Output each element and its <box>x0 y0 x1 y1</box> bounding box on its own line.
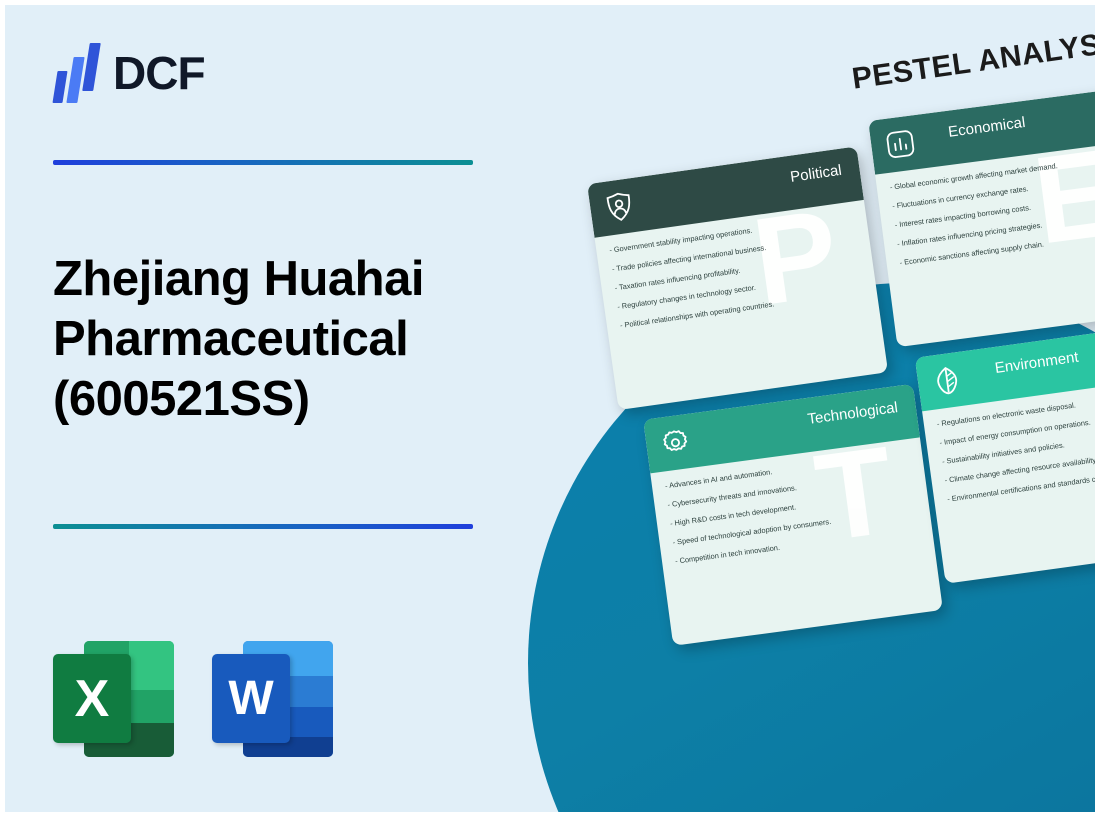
page-title-line-2: Pharmaceutical <box>53 310 493 370</box>
card-title-economical: Economical <box>947 114 1026 141</box>
card-title-technological: Technological <box>807 399 899 428</box>
leaf-icon <box>928 362 966 400</box>
card-body-technological: T - Advances in AI and automation. - Cyb… <box>650 437 943 645</box>
poster-canvas: PESTEL ANALYSIS Political P <box>5 5 1095 812</box>
divider-top <box>53 160 473 165</box>
page-title: Zhejiang Huahai Pharmaceutical (600521SS… <box>53 250 493 429</box>
divider-bottom <box>53 524 473 529</box>
pestel-card-economical[interactable]: Economical E - Global economic growth af… <box>868 86 1095 347</box>
pestel-card-grid: Political P - Government stability impac… <box>587 106 1095 649</box>
dcf-logo[interactable]: DCF <box>53 43 205 103</box>
bar-chart-logo-icon <box>53 43 99 103</box>
word-letter-tile: W <box>212 654 290 743</box>
pestel-analysis-heading: PESTEL ANALYSIS <box>850 24 1095 97</box>
pestel-card-political[interactable]: Political P - Government stability impac… <box>587 146 888 410</box>
bullet-list-economical: - Global economic growth affecting marke… <box>889 151 1095 268</box>
card-body-political: P - Government stability impacting opera… <box>595 200 889 410</box>
word-file-icon[interactable]: W <box>212 635 339 762</box>
card-title-environment: Environment <box>994 349 1080 377</box>
excel-letter-tile: X <box>53 654 131 743</box>
card-title-political: Political <box>789 162 843 186</box>
pestel-card-technological[interactable]: Technological T - Advances in AI and aut… <box>643 384 943 646</box>
left-panel: DCF Zhejiang Huahai Pharmaceutical (6005… <box>5 5 525 812</box>
gear-icon <box>656 424 694 462</box>
page-title-line-3: (600521SS) <box>53 370 493 430</box>
word-letter: W <box>212 654 290 743</box>
brand-name: DCF <box>113 50 205 96</box>
excel-file-icon[interactable]: X <box>53 635 180 762</box>
bar-chart-icon <box>881 125 919 163</box>
download-icons: X W <box>53 635 339 762</box>
excel-letter: X <box>53 654 131 743</box>
bullet-list-technological: - Advances in AI and automation. - Cyber… <box>664 449 919 567</box>
bullet-list-political: - Government stability impacting operati… <box>609 212 865 331</box>
pestel-card-environment[interactable]: Environment E - Regulations on electroni… <box>915 321 1095 584</box>
card-body-economical: E - Global economic growth affecting mar… <box>875 140 1095 348</box>
person-shield-icon <box>600 188 638 226</box>
page-title-line-1: Zhejiang Huahai <box>53 250 493 310</box>
